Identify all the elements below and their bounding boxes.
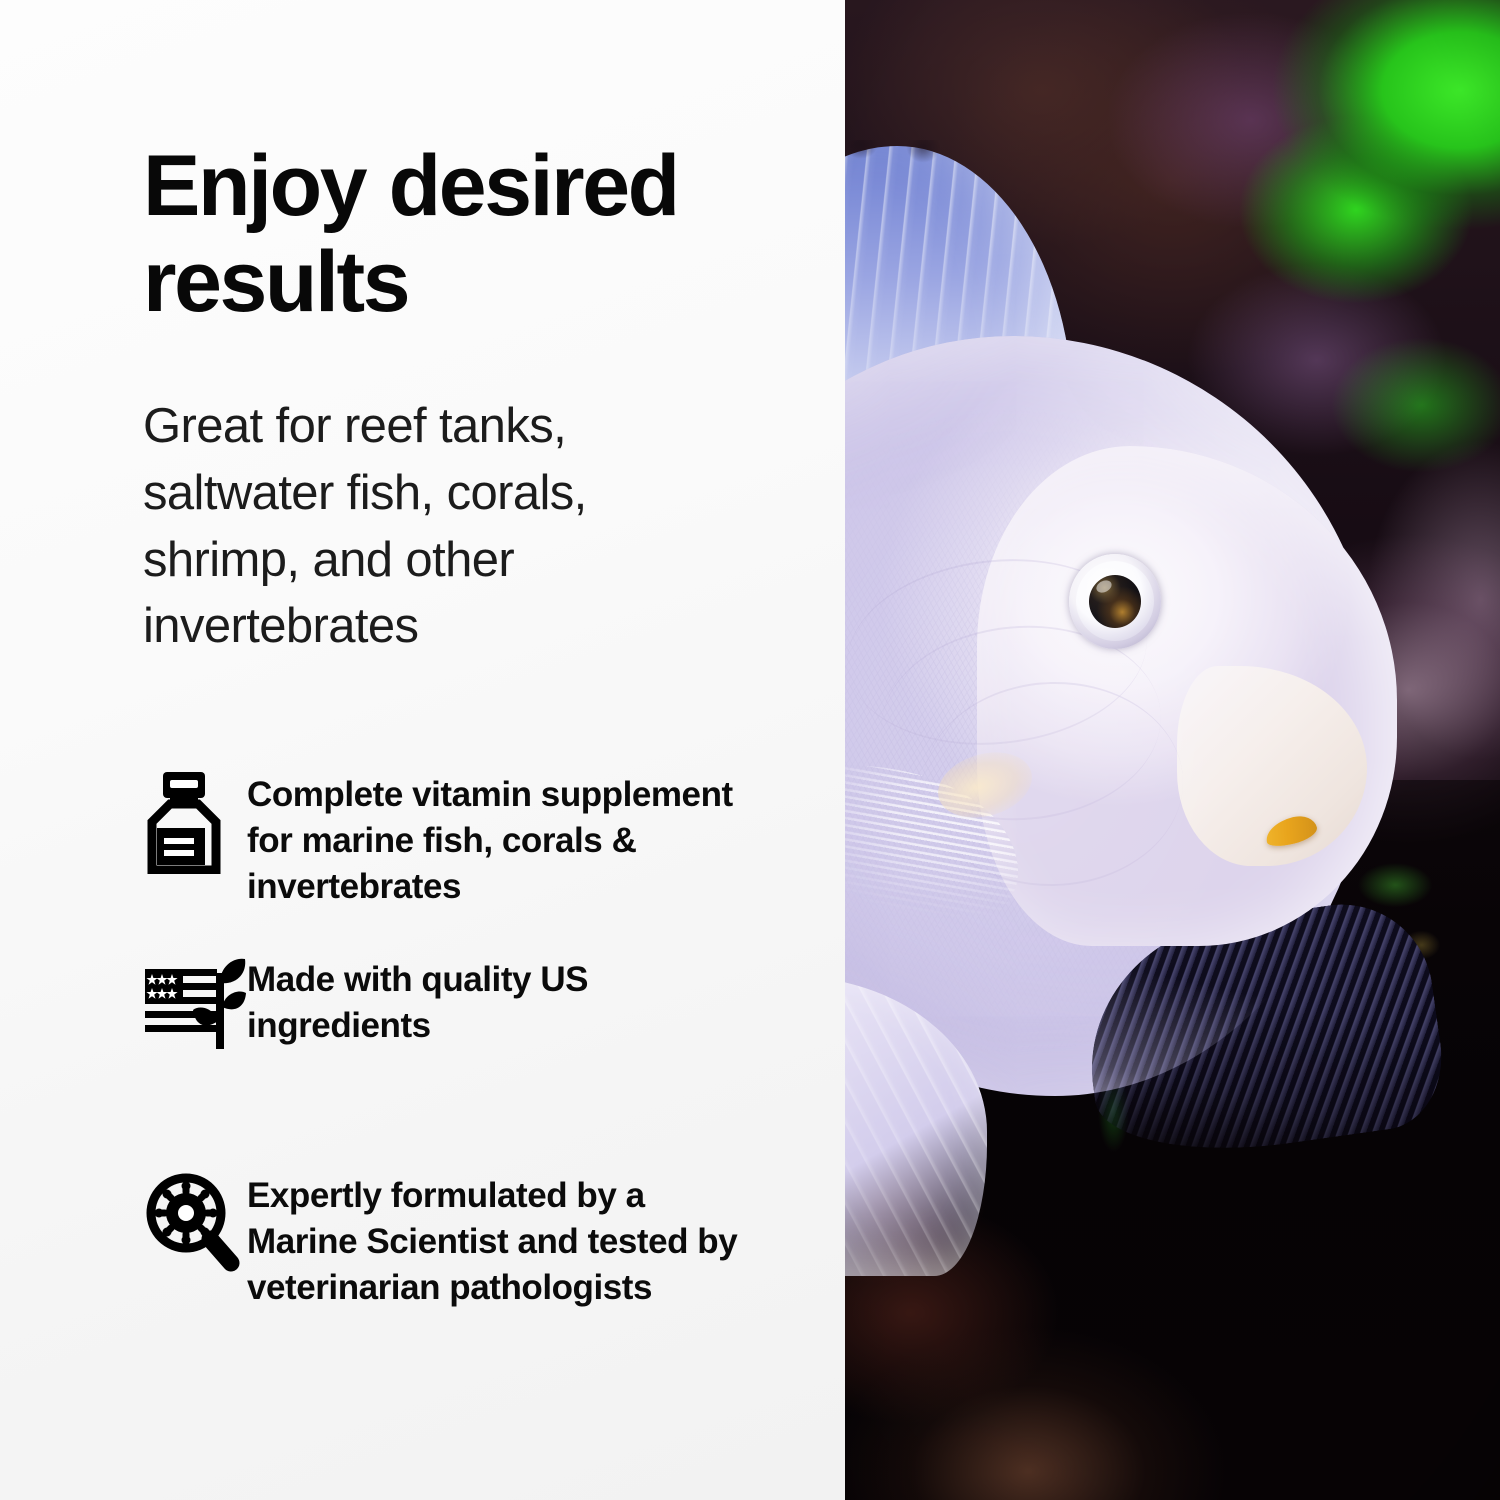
magnifier-microbe-icon [143, 1169, 247, 1273]
feature-label: Complete vitamin supplement for marine f… [247, 768, 759, 909]
fish-eye-pupil [1089, 575, 1141, 628]
feature-label: Expertly formulated by a Marine Scientis… [247, 1169, 759, 1310]
feature-item-vitamin-supplement: Complete vitamin supplement for marine f… [143, 768, 845, 909]
fish-dorsal-fin-notches [845, 140, 1087, 260]
page-headline: Enjoy desired results [143, 0, 815, 331]
tang-fish [845, 146, 1497, 1256]
product-feature-panel: Enjoy desired results Great for reef tan… [0, 0, 1500, 1500]
feature-label: Made with quality US ingredients [247, 953, 759, 1048]
feature-list: Complete vitamin supplement for marine f… [143, 660, 845, 1310]
feature-item-us-ingredients: Made with quality US ingredients [143, 953, 845, 1057]
page-subheading: Great for reef tanks, saltwater fish, co… [143, 331, 743, 661]
copy-panel: Enjoy desired results Great for reef tan… [0, 0, 845, 1500]
us-flag-plant-icon [143, 953, 247, 1057]
supplement-bottle-icon [143, 768, 247, 872]
reef-fish-photo [845, 0, 1500, 1500]
feature-item-expert-formulation: Expertly formulated by a Marine Scientis… [143, 1169, 845, 1310]
